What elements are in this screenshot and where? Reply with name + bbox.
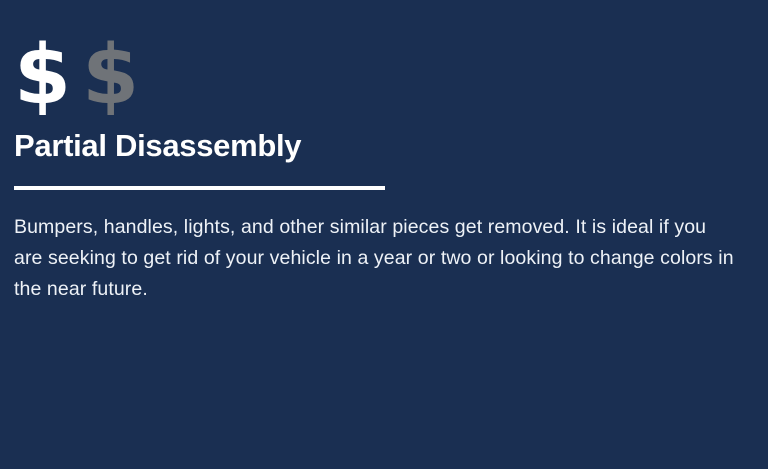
body-description: Bumpers, handles, lights, and other simi… <box>14 212 740 305</box>
page-title: Partial Disassembly <box>14 128 301 164</box>
dollar-sign-icon-primary: $ <box>14 38 70 113</box>
dollar-sign-icon-secondary: $ <box>82 38 138 113</box>
slide-container: $ $ Partial Disassembly Bumpers, handles… <box>0 0 768 469</box>
title-divider <box>14 186 385 190</box>
cost-indicator-icons: $ $ <box>14 38 138 113</box>
